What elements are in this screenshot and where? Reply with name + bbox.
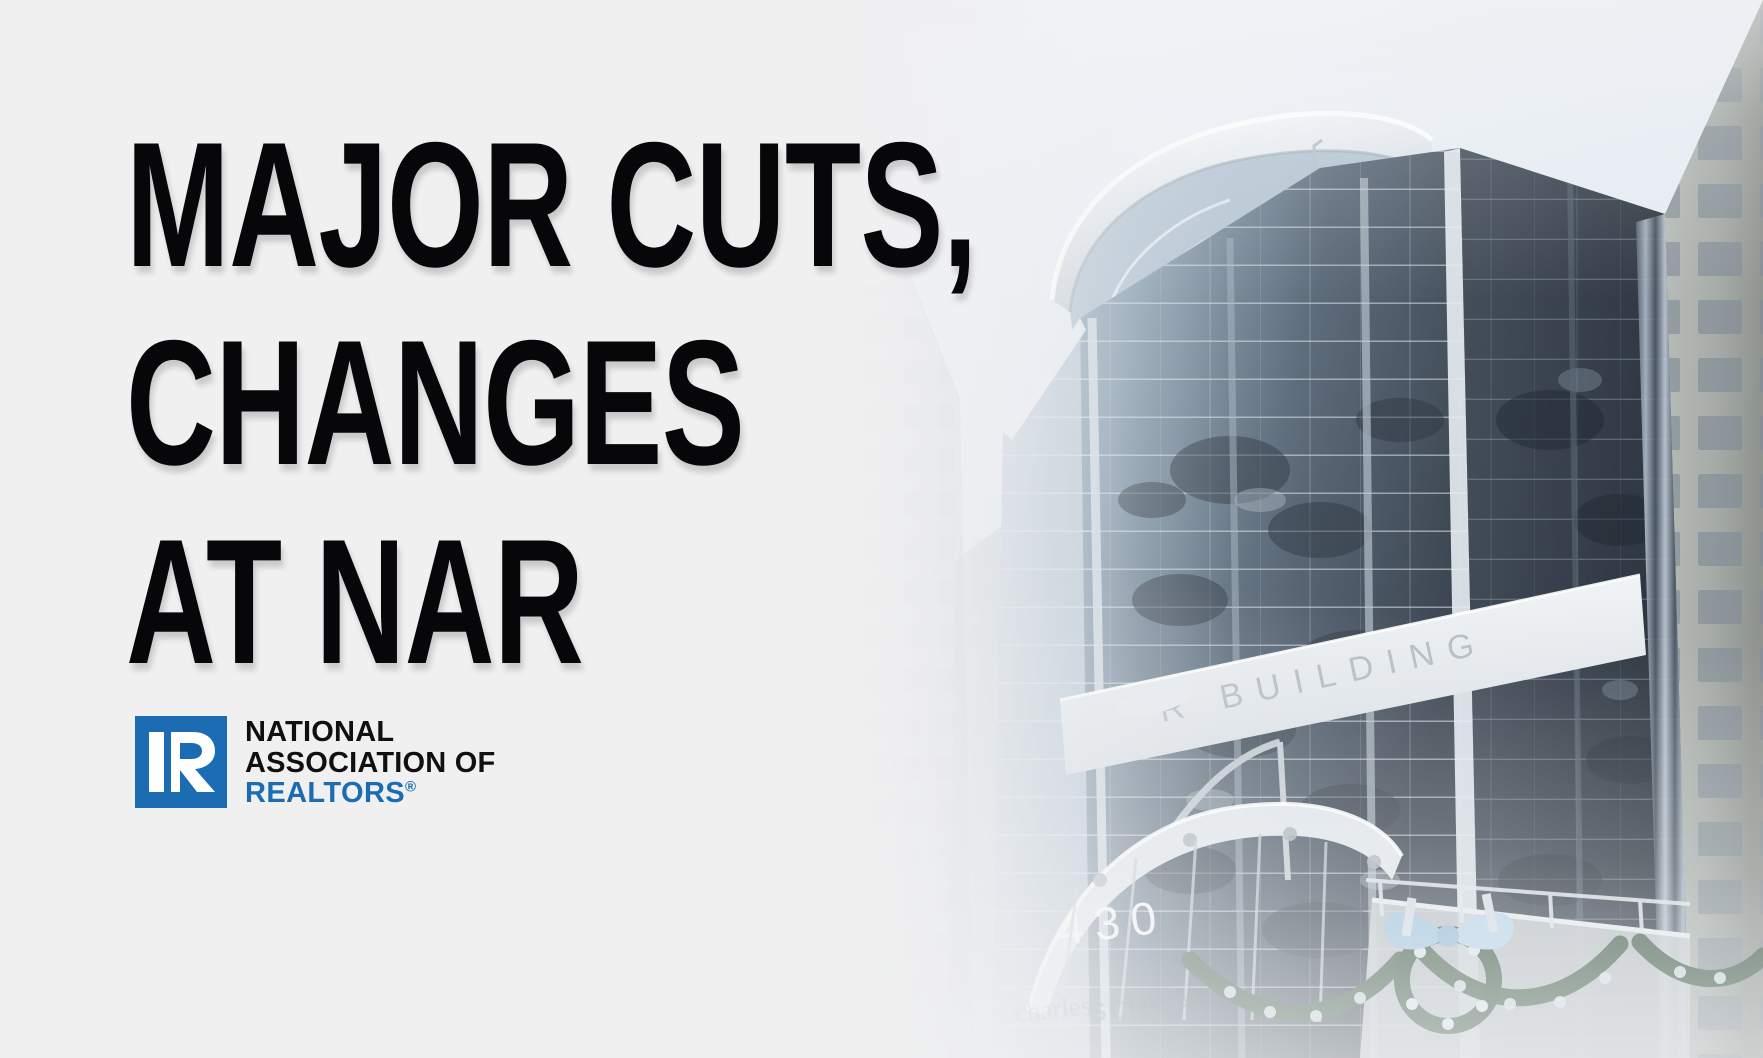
nar-logo-line-1: NATIONAL <box>245 717 495 748</box>
nar-logo: NATIONAL ASSOCIATION OF REALTORS® <box>135 716 495 809</box>
headline-line-2: CHANGES <box>126 316 700 490</box>
headline-line-1: MAJOR CUTS, <box>126 118 700 292</box>
poster-canvas: R BUILDING 430 <box>0 0 1763 1058</box>
nar-logo-line-3: REALTORS® <box>245 778 495 809</box>
nar-logo-wordmark: NATIONAL ASSOCIATION OF REALTORS® <box>245 716 495 809</box>
headline-line-3: AT NAR <box>126 515 700 689</box>
registered-trademark-icon: ® <box>405 779 416 796</box>
nar-r-mark-icon <box>135 716 227 808</box>
nar-logo-realtors-text: REALTORS <box>245 777 405 809</box>
nar-logo-line-2: ASSOCIATION OF <box>245 748 495 779</box>
page-title: MAJOR CUTS, CHANGES AT NAR <box>126 118 946 689</box>
